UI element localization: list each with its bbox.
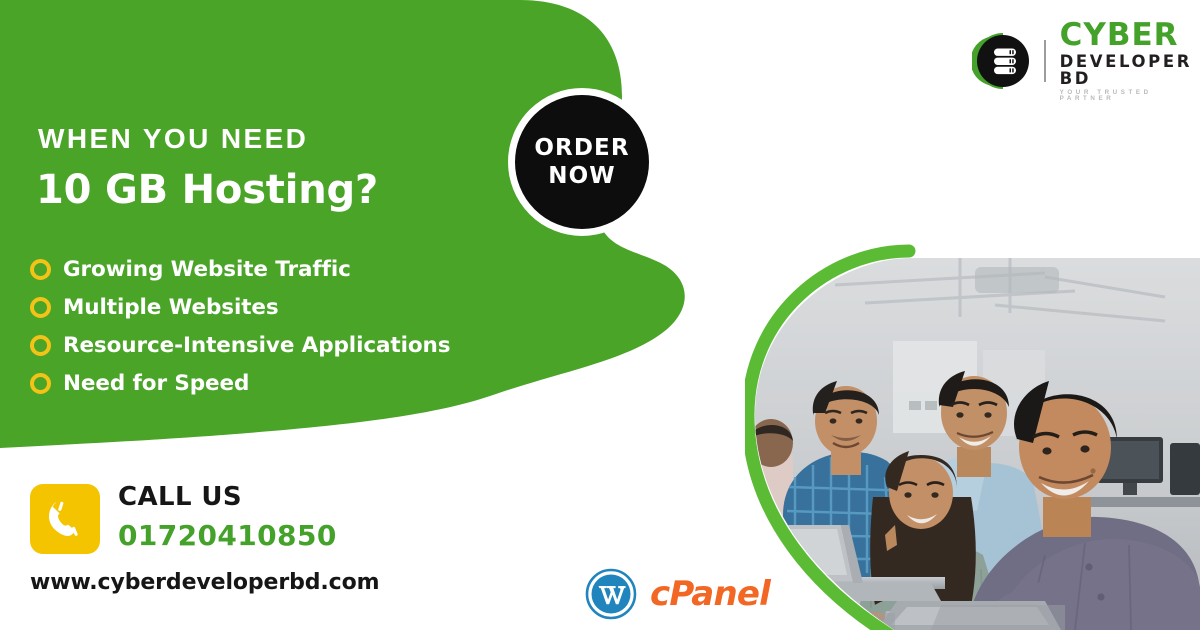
cpanel-logo: cPanel	[650, 574, 770, 614]
ring-bullet-icon	[30, 373, 51, 394]
logo-tagline: YOUR TRUSTED PARTNER	[1060, 90, 1200, 102]
logo-primary-text: CYBER	[1060, 20, 1200, 51]
list-item-label: Need for Speed	[63, 371, 249, 396]
logo-secondary-text: DEVELOPER BD	[1060, 54, 1200, 87]
server-stack-circle-icon	[972, 30, 1034, 92]
list-item-label: Multiple Websites	[63, 295, 279, 320]
wordpress-logo	[585, 568, 637, 620]
call-us-block[interactable]: CALL US 01720410850	[30, 484, 337, 554]
brand-logo[interactable]: CYBER DEVELOPER BD YOUR TRUSTED PARTNER	[972, 20, 1200, 102]
team-photo-illustration	[745, 225, 1200, 630]
call-us-label: CALL US	[118, 484, 337, 511]
ring-bullet-icon	[30, 335, 51, 356]
partner-logos: cPanel	[585, 568, 770, 620]
hero-kicker: WHEN YOU NEED	[38, 125, 308, 153]
team-photo	[745, 225, 1200, 630]
ring-bullet-icon	[30, 259, 51, 280]
phone-number[interactable]: 01720410850	[118, 522, 337, 550]
phone-handset-icon	[43, 497, 87, 541]
list-item: Multiple Websites	[30, 288, 450, 326]
order-now-line1: ORDER	[534, 134, 629, 162]
promo-banner: CYBER DEVELOPER BD YOUR TRUSTED PARTNER …	[0, 0, 1200, 630]
order-now-button[interactable]: ORDER NOW	[508, 88, 656, 236]
hero-headline: 10 GB Hosting?	[36, 170, 378, 210]
list-item-label: Resource-Intensive Applications	[63, 333, 450, 358]
phone-icon-badge	[30, 484, 100, 554]
logo-divider	[1044, 40, 1046, 82]
list-item: Need for Speed	[30, 364, 450, 402]
call-us-text: CALL US 01720410850	[118, 484, 337, 550]
list-item: Resource-Intensive Applications	[30, 326, 450, 364]
website-url[interactable]: www.cyberdeveloperbd.com	[30, 570, 379, 595]
list-item-label: Growing Website Traffic	[63, 257, 351, 282]
logo-wordmark: CYBER DEVELOPER BD YOUR TRUSTED PARTNER	[1060, 20, 1200, 102]
order-now-line2: NOW	[548, 162, 615, 190]
ring-bullet-icon	[30, 297, 51, 318]
list-item: Growing Website Traffic	[30, 250, 450, 288]
feature-list: Growing Website Traffic Multiple Website…	[30, 250, 450, 402]
